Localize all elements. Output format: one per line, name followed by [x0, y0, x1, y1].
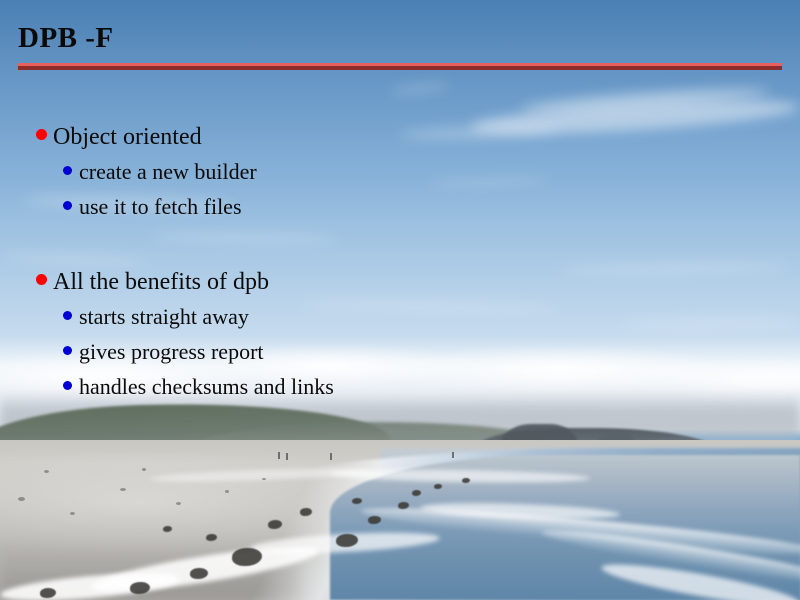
bullet-dot-red-icon	[36, 274, 47, 285]
bullet-dot-blue-icon	[63, 201, 72, 210]
distant-person	[278, 452, 280, 459]
bullet-text: starts straight away	[79, 304, 249, 330]
presentation-slide: DPB -F Object oriented create a new buil…	[0, 0, 800, 600]
bullet-text: gives progress report	[79, 339, 264, 365]
beach-debris	[262, 478, 266, 480]
bullet-dot-blue-icon	[63, 166, 72, 175]
bullet-text: create a new builder	[79, 159, 257, 185]
beach-debris	[176, 502, 181, 505]
beach-debris	[225, 490, 229, 493]
bullet-text: use it to fetch files	[79, 194, 242, 220]
bullet-group-spacer	[0, 229, 800, 269]
bullet-text: Object oriented	[53, 124, 202, 151]
title-divider-shadow	[18, 66, 782, 70]
beach-debris	[18, 497, 25, 501]
beach-debris	[120, 488, 126, 491]
distant-person	[330, 453, 332, 460]
bullet-level2: starts straight away	[0, 304, 800, 339]
bullet-level1: Object oriented	[0, 124, 800, 159]
bullet-dot-blue-icon	[63, 346, 72, 355]
bullet-text: handles checksums and links	[79, 374, 334, 400]
bullet-level2: create a new builder	[0, 159, 800, 194]
beach-debris	[70, 512, 75, 515]
distant-person	[286, 453, 288, 460]
bullet-level1: All the benefits of dpb	[0, 269, 800, 304]
beach-debris	[44, 470, 49, 473]
bullet-level2: use it to fetch files	[0, 194, 800, 229]
bullet-level2: gives progress report	[0, 339, 800, 374]
slide-body: Object oriented create a new builder use…	[0, 124, 800, 409]
bullet-text: All the benefits of dpb	[53, 269, 269, 296]
bullet-dot-blue-icon	[63, 311, 72, 320]
distant-person	[452, 452, 454, 458]
slide-title: DPB -F	[18, 22, 114, 55]
bullet-dot-red-icon	[36, 129, 47, 140]
bullet-dot-blue-icon	[63, 381, 72, 390]
bullet-level2: handles checksums and links	[0, 374, 800, 409]
title-divider	[18, 63, 782, 70]
beach-debris	[142, 468, 146, 471]
